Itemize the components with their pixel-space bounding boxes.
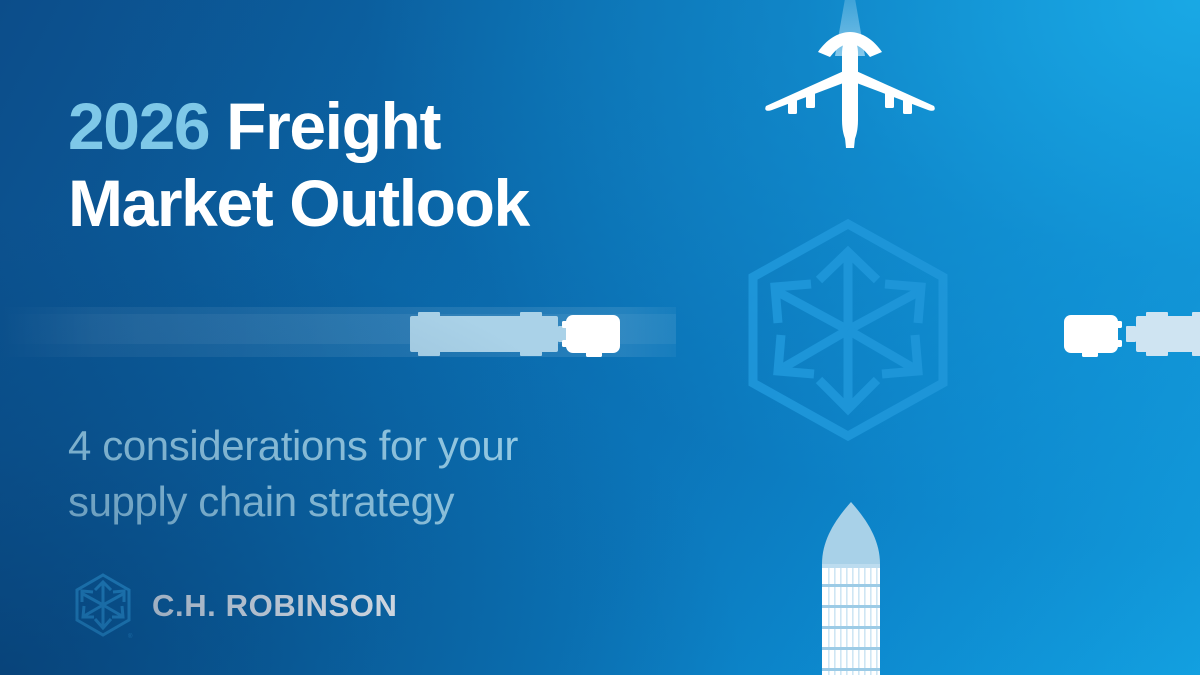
title-line-1-rest: Freight [226,89,440,163]
airplane-icon [760,24,940,149]
title-line-1: 2026 Freight [68,88,708,165]
hexagon-cube-arrows-icon: ® [72,572,134,640]
hero-banner: 2026 Freight Market Outlook 4 considerat… [0,0,1200,675]
brand-wordmark: C.H. ROBINSON [152,588,397,624]
hexagon-cube-arrows-watermark [737,218,959,442]
page-title: 2026 Freight Market Outlook [68,88,708,242]
registered-trademark-mark: ® [128,633,133,640]
page-subtitle: 4 considerations for your supply chain s… [68,418,688,530]
subtitle-line-2: supply chain strategy [68,474,688,530]
title-year: 2026 [68,89,209,163]
airplane-group [740,0,960,164]
title-line-2: Market Outlook [68,165,708,242]
semi-truck-right-icon [1062,310,1200,358]
semi-truck-left-icon [408,310,628,358]
subtitle-line-1: 4 considerations for your [68,418,688,474]
cargo-ship-icon [818,502,884,675]
brand-logo-lockup: ® C.H. ROBINSON [72,572,397,640]
